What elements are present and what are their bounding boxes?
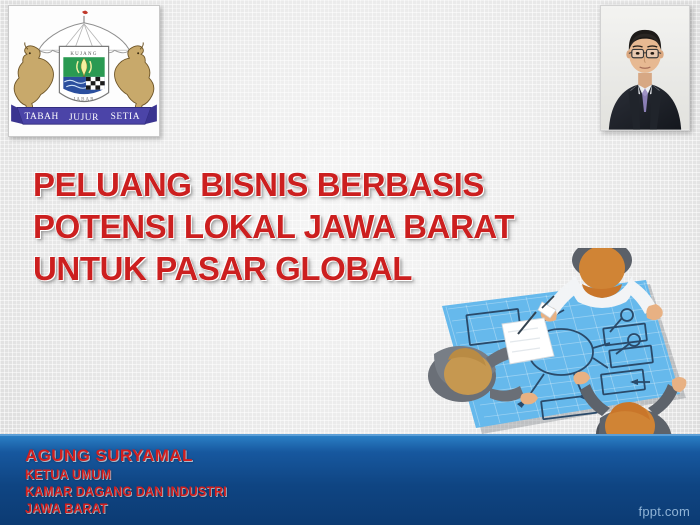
motto-word-2: JUJUR [69, 113, 99, 123]
coat-of-arms-icon: KUJANG JABAR [9, 6, 159, 136]
emblem-lower-label: JABAR [73, 98, 94, 103]
motto-word-3: SETIA [111, 112, 140, 122]
speaker-role-line-1: KETUA UMUM [25, 466, 227, 483]
business-meeting-illustration [424, 248, 700, 444]
emblem-inner-label: KUJANG [70, 52, 97, 57]
portrait-photo-icon [601, 6, 689, 130]
meeting-flowchart-icon [424, 248, 700, 444]
title-line-1: PELUANG BISNIS BERBASIS [33, 164, 593, 206]
speaker-name: AGUNG SURYAMAL [25, 445, 245, 466]
speaker-role-line-3: JAWA BARAT [25, 500, 227, 517]
speaker-info: AGUNG SURYAMAL KETUA UMUM KAMAR DAGANG D… [25, 445, 245, 517]
watermark-fppt: fppt.com [639, 504, 690, 519]
coat-of-arms-emblem: KUJANG JABAR [8, 5, 160, 137]
motto-word-1: TABAH [24, 112, 58, 122]
speaker-portrait [600, 5, 690, 131]
presentation-slide: KUJANG JABAR [0, 0, 700, 525]
title-line-2: POTENSI LOKAL JAWA BARAT [33, 206, 593, 248]
speaker-banner: AGUNG SURYAMAL KETUA UMUM KAMAR DAGANG D… [0, 434, 700, 525]
speaker-role-line-2: KAMAR DAGANG DAN INDUSTRI [25, 483, 227, 500]
